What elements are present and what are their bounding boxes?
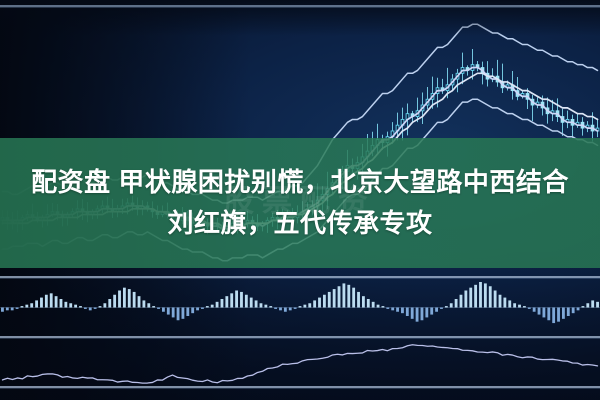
macd-svg — [0, 279, 600, 336]
oscillator-svg — [0, 339, 600, 387]
oscillator-line — [3, 345, 598, 383]
headline-text: 配资盘 甲状腺困扰别慌，北京大望路中西结合刘红旗，五代传承专攻 — [20, 162, 580, 244]
macd-bar-series — [1, 282, 599, 323]
macd-histogram-panel — [0, 279, 600, 336]
chart-banner: 股票配资 配资盘 甲状腺困扰别慌，北京大望路中西结合刘红旗，五代传承专攻 — [0, 0, 600, 400]
headline-container: 配资盘 甲状腺困扰别慌，北京大望路中西结合刘红旗，五代传承专攻 — [0, 138, 600, 268]
oscillator-panel — [0, 339, 600, 387]
